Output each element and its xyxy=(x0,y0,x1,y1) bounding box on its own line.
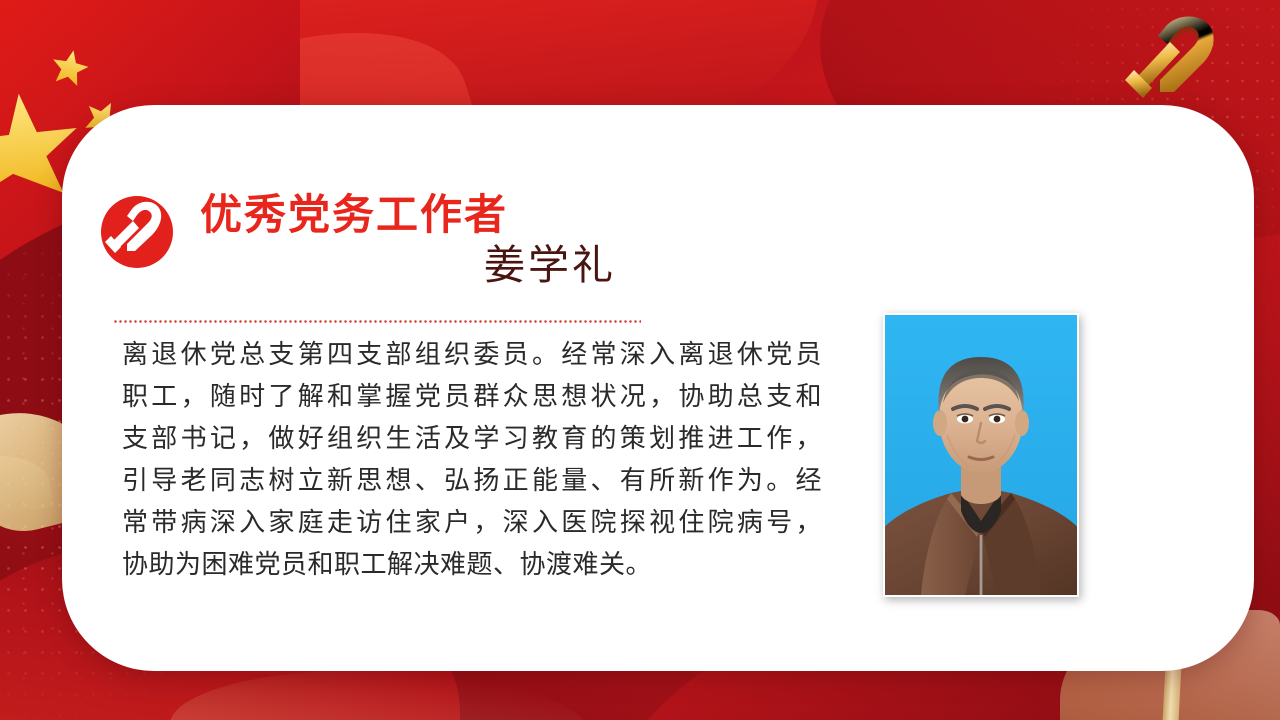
page-title: 优秀党务工作者 xyxy=(200,193,620,240)
body-line: 常带病深入家庭走访住家户，深入医院探视住院病号， xyxy=(122,501,822,543)
body-line: 支部书记，做好组织生活及学习教育的策划推进工作， xyxy=(122,417,822,459)
card-header: 优秀党务工作者 姜学礼 xyxy=(100,193,680,313)
portrait-frame xyxy=(883,313,1079,597)
content-card: 优秀党务工作者 姜学礼 离退休党总支第四支部组织委员。经常深入离退休党员 职工，… xyxy=(62,105,1254,671)
body-line: 协助为困难党员和职工解决难题、协渡难关。 xyxy=(122,543,822,585)
dotted-divider xyxy=(113,320,641,323)
person-name: 姜学礼 xyxy=(200,240,620,290)
body-line: 引导老同志树立新思想、弘扬正能量、有所新作为。经 xyxy=(122,459,822,501)
body-line: 离退休党总支第四支部组织委员。经常深入离退休党员 xyxy=(122,333,822,375)
gold-party-emblem-icon xyxy=(1124,16,1232,108)
biography-text: 离退休党总支第四支部组织委员。经常深入离退休党员 职工，随时了解和掌握党员群众思… xyxy=(122,333,822,585)
slide-root: 优秀党务工作者 姜学礼 离退休党总支第四支部组织委员。经常深入离退休党员 职工，… xyxy=(0,0,1280,720)
avatar xyxy=(885,315,1077,595)
body-line: 职工，随时了解和掌握党员群众思想状况，协助总支和 xyxy=(122,375,822,417)
party-emblem-icon xyxy=(100,195,174,269)
portrait-photo xyxy=(885,315,1077,595)
title-block: 优秀党务工作者 姜学礼 xyxy=(200,193,620,290)
